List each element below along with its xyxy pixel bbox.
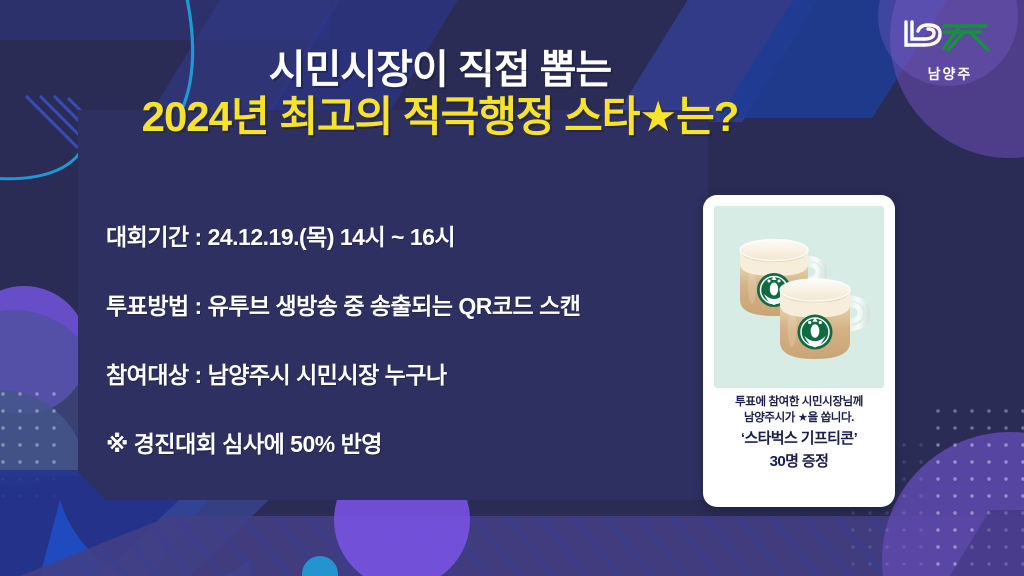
detail-line-period: 대회기간 : 24.12.19.(목) 14시 ~ 16시 <box>106 218 686 252</box>
caption-line-1: 투표에 참여한 시민시장님께 <box>714 395 884 411</box>
poster-details: 대회기간 : 24.12.19.(목) 14시 ~ 16시 투표방법 : 유투브… <box>106 218 686 459</box>
city-logo-mark-icon <box>898 18 1002 58</box>
detail-line-vote-method: 투표방법 : 유투브 생방송 중 송출되는 QR코드 스캔 <box>106 287 686 321</box>
detail-line-note: ※ 경진대회 심사에 50% 반영 <box>106 425 686 459</box>
latte-mugs-illustration <box>714 206 884 388</box>
poster-canvas: 시민시장이 직접 뽑는 2024년 최고의 적극행정 스타★는? 대회기간 : … <box>0 0 1024 576</box>
detail-line-eligibility: 참여대상 : 남양주시 시민시장 누구나 <box>106 356 686 390</box>
title-line-2: 2024년 최고의 적극행정 스타★는? <box>0 93 880 140</box>
poster-title: 시민시장이 직접 뽑는 2024년 최고의 적극행정 스타★는? <box>0 48 880 140</box>
gift-card-caption: 투표에 참여한 시민시장님께 남양주시가 ★을 쏩니다. ‘스타벅스 기프티콘’… <box>714 395 884 471</box>
gift-card: 투표에 참여한 시민시장님께 남양주시가 ★을 쏩니다. ‘스타벅스 기프티콘’… <box>703 195 895 507</box>
namyangju-logo: 남양주 <box>898 18 1002 84</box>
title-line-1: 시민시장이 직접 뽑는 <box>0 48 880 93</box>
caption-line-2: 남양주시가 ★을 쏩니다. <box>714 411 884 427</box>
caption-line-3: ‘스타벅스 기프티콘’ <box>714 429 884 449</box>
starbucks-mugs-photo <box>714 206 884 388</box>
logo-city-name: 남양주 <box>898 64 1002 84</box>
caption-line-4: 30명 증정 <box>714 452 884 472</box>
